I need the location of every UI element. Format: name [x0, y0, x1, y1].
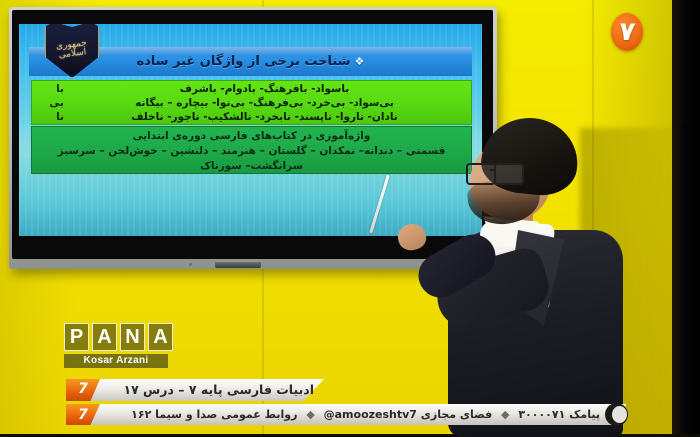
table-row: باسواد- بافرهنگ- بادوام- باشرف با	[38, 83, 465, 97]
social-label: فضای مجازی	[421, 408, 492, 421]
lower-third-ticker-bar: پیامک ۳۰۰۰۰۷۱ ◆ فضای مجازی @amoozeshtv7 …	[66, 404, 626, 425]
pana-logo: P A N A	[64, 323, 173, 351]
prefix-words: بی‌سواد- بی‌خرد- بی‌فرهنگ- بی‌نوا- بیچار…	[64, 97, 465, 109]
table-row: بی‌سواد- بی‌خرد- بی‌فرهنگ- بی‌نوا- بیچار…	[38, 97, 465, 111]
pana-letter: A	[92, 323, 117, 351]
broadcast-frame: جمهوری اسلامی ❖شناخت برخی از واژگان غیر …	[0, 0, 700, 437]
prefix-key: با	[38, 83, 64, 95]
glasses-lens-left	[466, 163, 496, 185]
separator-icon: ◆	[301, 408, 319, 421]
tv-stand-foot	[215, 262, 261, 268]
vocabulary-words-cont: سرانگشت– سوزناک	[40, 159, 463, 174]
glasses-lens-right	[494, 163, 524, 185]
prefix-key: بی	[38, 97, 64, 109]
presentation-slide: جمهوری اسلامی ❖شناخت برخی از واژگان غیر …	[19, 24, 482, 236]
social-handle[interactable]: @amoozeshtv7	[324, 405, 417, 424]
separator-icon: ◆	[496, 408, 514, 421]
pana-watermark: P A N A Kosar Arzani	[64, 323, 173, 368]
prefix-words: باسواد- بافرهنگ- بادوام- باشرف	[64, 83, 465, 95]
prefix-table: باسواد- بافرهنگ- بادوام- باشرف با بی‌سوا…	[31, 80, 472, 125]
pana-letter: P	[64, 323, 89, 351]
ministry-emblem-icon: جمهوری اسلامی	[45, 24, 97, 76]
vocabulary-heading: واژه‌آموزی در کتاب‌های فارسی دوره‌ی ابتد…	[40, 129, 463, 144]
programme-title: ادبیات فارسی پایه ۷ – درس ۱۷	[123, 380, 314, 400]
table-row: نادان- ناروا- ناپسند- نابخرد- نالشکیب- ن…	[38, 111, 465, 125]
channel-number: ٧	[611, 13, 643, 51]
emblem-calligraphy: جمهوری اسلامی	[43, 24, 101, 80]
vocabulary-words: قسمتی – دندانه– نمکدان – گلستان – هنرمند…	[40, 144, 463, 159]
vocabulary-box: واژه‌آموزی در کتاب‌های فارسی دوره‌ی ابتد…	[31, 126, 472, 174]
slide-title-text: شناخت برخی از واژگان غیر ساده	[136, 54, 350, 69]
glasses-bridge	[490, 169, 496, 171]
moon-icon	[605, 403, 628, 426]
channel-7-logo-icon: ٧	[611, 13, 643, 51]
prefix-words: نادان- ناروا- ناپسند- نابخرد- نالشکیب- ن…	[64, 111, 465, 123]
slide-title: ❖شناخت برخی از واژگان غیر ساده	[136, 54, 364, 69]
prefix-key: نا	[38, 111, 64, 123]
bullet-icon: ❖	[354, 55, 364, 68]
contact-info: پیامک ۳۰۰۰۰۷۱ ◆ فضای مجازی @amoozeshtv7 …	[131, 405, 600, 424]
pana-letter: N	[120, 323, 145, 351]
pr-number: ۱۶۲	[131, 408, 151, 421]
sms-label: پیامک	[569, 408, 600, 421]
photographer-credit: Kosar Arzani	[64, 354, 168, 368]
sms-number: ۳۰۰۰۰۷۱	[518, 408, 565, 421]
pr-label: روابط عمومی صدا و سیما	[155, 408, 297, 421]
pana-letter: A	[148, 323, 173, 351]
lower-third-title-bar: ادبیات فارسی پایه ۷ – درس ۱۷ 7	[66, 379, 324, 401]
tv-power-led	[189, 263, 192, 266]
presenter	[430, 118, 680, 437]
